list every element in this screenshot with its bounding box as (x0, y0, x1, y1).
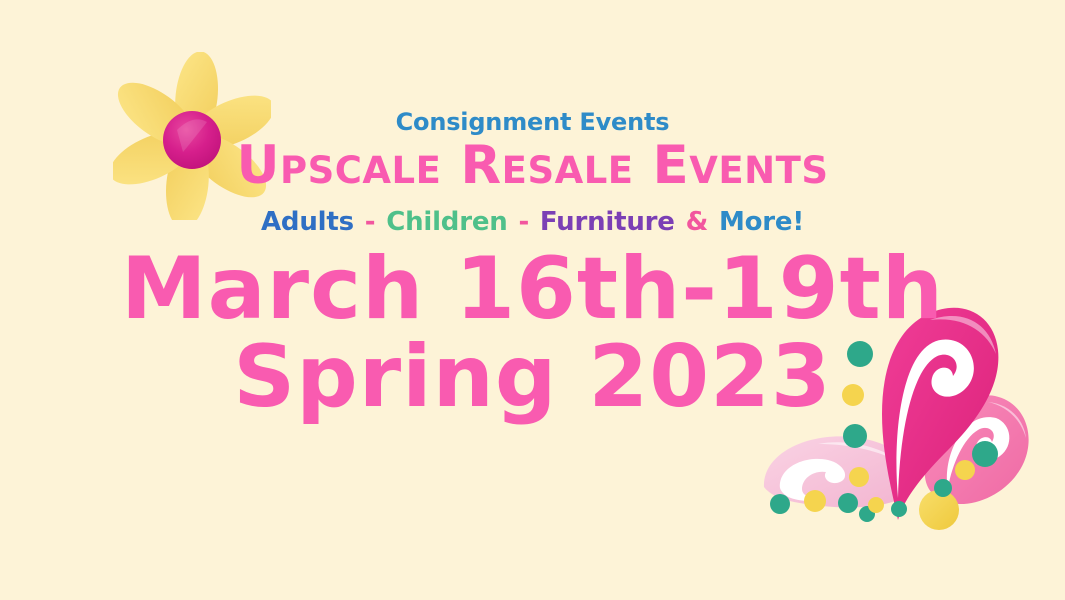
tagline-dash-2: - (517, 207, 530, 237)
eyebrow-text: Consignment Events (0, 108, 1065, 136)
tagline-dash-1: - (364, 207, 377, 237)
tagline-furniture: Furniture (539, 207, 676, 237)
poster-canvas: Consignment Events Upscale Resale Events… (0, 0, 1065, 600)
headline-dates: March 16th-19th (0, 246, 1065, 332)
brand-title: Upscale Resale Events (0, 138, 1065, 194)
tagline-children: Children (385, 207, 508, 237)
headline-season-year: Spring 2023 (0, 334, 1065, 420)
tagline-more: More! (718, 207, 805, 237)
tagline-adults: Adults (260, 207, 355, 237)
tagline-ampersand: & (685, 207, 709, 237)
tagline: Adults - Children - Furniture & More! (0, 207, 1065, 237)
